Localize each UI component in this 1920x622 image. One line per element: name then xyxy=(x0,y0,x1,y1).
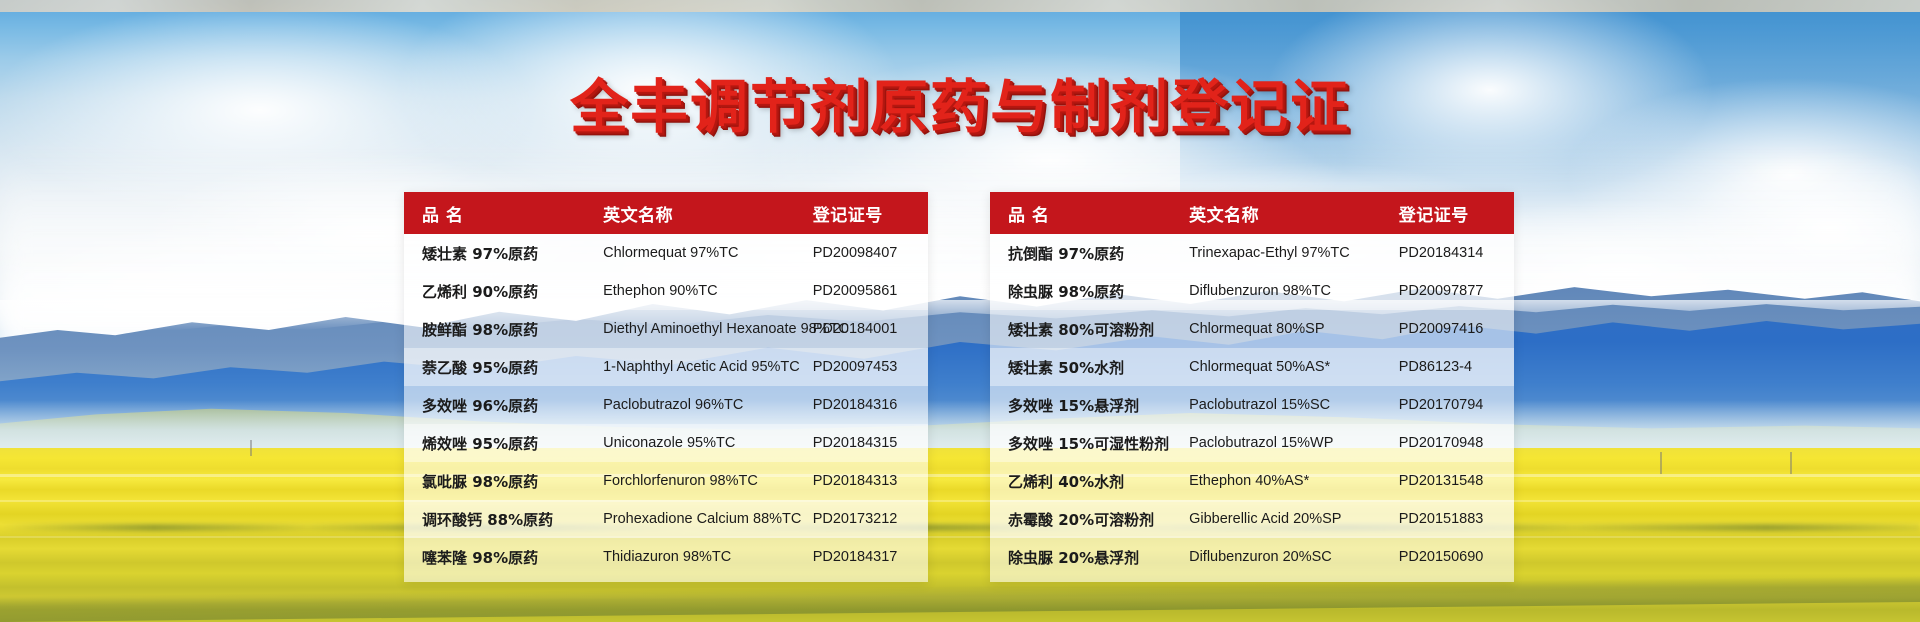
table-row: 多效唑 15%悬浮剂Paclobutrazol 15%SCPD20170794 xyxy=(990,386,1514,424)
cell-product-name: 萘乙酸 95%原药 xyxy=(404,357,603,378)
cell-registration-number: PD20184313 xyxy=(813,473,928,489)
table-body: 抗倒酯 97%原药Trinexapac-Ethyl 97%TCPD2018431… xyxy=(990,234,1514,582)
cell-product-name: 多效唑 15%可湿性粉剂 xyxy=(990,433,1189,454)
cell-registration-number: PD20170794 xyxy=(1399,397,1514,413)
cell-registration-number: PD20184317 xyxy=(813,549,928,565)
table-row: 矮壮素 50%水剂Chlormequat 50%AS*PD86123-4 xyxy=(990,348,1514,386)
cell-english-name: Chlormequat 50%AS* xyxy=(1189,359,1399,375)
column-header-english-name: 英文名称 xyxy=(603,201,813,226)
cell-registration-number: PD20097416 xyxy=(1399,321,1514,337)
title-container: 全丰调节剂原药与制剂登记证 xyxy=(0,60,1920,144)
cell-english-name: Diflubenzuron 20%SC xyxy=(1189,549,1399,565)
table-row: 赤霉酸 20%可溶粉剂Gibberellic Acid 20%SPPD20151… xyxy=(990,500,1514,538)
cell-english-name: Paclobutrazol 15%SC xyxy=(1189,397,1399,413)
power-pylon xyxy=(250,440,252,456)
cell-product-name: 矮壮素 80%可溶粉剂 xyxy=(990,319,1189,340)
table-header-row: 品 名 英文名称 登记证号 xyxy=(404,192,928,234)
field-road-stripe xyxy=(0,536,1920,538)
valley-haze-layer xyxy=(0,400,1920,450)
village-strip xyxy=(0,0,1920,12)
column-header-registration-number: 登记证号 xyxy=(813,201,928,226)
column-header-registration-number: 登记证号 xyxy=(1399,201,1514,226)
table-row: 除虫脲 20%悬浮剂Diflubenzuron 20%SCPD20150690 xyxy=(990,538,1514,576)
column-header-product-name: 品 名 xyxy=(990,201,1189,226)
cell-product-name: 除虫脲 20%悬浮剂 xyxy=(990,547,1189,568)
table-header-row: 品 名 英文名称 登记证号 xyxy=(990,192,1514,234)
cell-registration-number: PD20184314 xyxy=(1399,245,1514,261)
cell-english-name: Diflubenzuron 98%TC xyxy=(1189,283,1399,299)
cell-english-name: Trinexapac-Ethyl 97%TC xyxy=(1189,245,1399,261)
table-row: 萘乙酸 95%原药1-Naphthyl Acetic Acid 95%TCPD2… xyxy=(404,348,928,386)
cell-registration-number: PD20150690 xyxy=(1399,549,1514,565)
cell-registration-number: PD20184315 xyxy=(813,435,928,451)
table-row: 乙烯利 90%原药Ethephon 90%TCPD20095861 xyxy=(404,272,928,310)
cell-product-name: 调环酸钙 88%原药 xyxy=(404,509,603,530)
column-header-english-name: 英文名称 xyxy=(1189,201,1399,226)
table-row: 乙烯利 40%水剂Ethephon 40%AS*PD20131548 xyxy=(990,462,1514,500)
table-row: 多效唑 96%原药Paclobutrazol 96%TCPD20184316 xyxy=(404,386,928,424)
cell-product-name: 除虫脲 98%原药 xyxy=(990,281,1189,302)
cell-product-name: 乙烯利 90%原药 xyxy=(404,281,603,302)
cell-english-name: Gibberellic Acid 20%SP xyxy=(1189,511,1399,527)
table-row: 调环酸钙 88%原药Prohexadione Calcium 88%TCPD20… xyxy=(404,500,928,538)
cell-product-name: 赤霉酸 20%可溶粉剂 xyxy=(990,509,1189,530)
cell-product-name: 烯效唑 95%原药 xyxy=(404,433,603,454)
registration-table-right: 品 名 英文名称 登记证号 抗倒酯 97%原药Trinexapac-Ethyl … xyxy=(990,192,1514,582)
cell-english-name: Ethephon 40%AS* xyxy=(1189,473,1399,489)
page-title: 全丰调节剂原药与制剂登记证 xyxy=(570,60,1350,144)
cell-product-name: 矮壮素 50%水剂 xyxy=(990,357,1189,378)
table-body: 矮壮素 97%原药Chlormequat 97%TCPD20098407乙烯利 … xyxy=(404,234,928,582)
table-row: 氯吡脲 98%原药Forchlorfenuron 98%TCPD20184313 xyxy=(404,462,928,500)
cell-english-name: Ethephon 90%TC xyxy=(603,283,813,299)
cell-registration-number: PD20184001 xyxy=(813,321,928,337)
table-row: 噻苯隆 98%原药Thidiazuron 98%TCPD20184317 xyxy=(404,538,928,576)
cell-registration-number: PD20095861 xyxy=(813,283,928,299)
cell-registration-number: PD20098407 xyxy=(813,245,928,261)
field-road-stripe xyxy=(0,500,1920,502)
cell-product-name: 胺鲜酯 98%原药 xyxy=(404,319,603,340)
cell-english-name: Paclobutrazol 96%TC xyxy=(603,397,813,413)
table-row: 胺鲜酯 98%原药Diethyl Aminoethyl Hexanoate 98… xyxy=(404,310,928,348)
cell-english-name: Chlormequat 80%SP xyxy=(1189,321,1399,337)
table-row: 抗倒酯 97%原药Trinexapac-Ethyl 97%TCPD2018431… xyxy=(990,234,1514,272)
cell-english-name: Diethyl Aminoethyl Hexanoate 98%TC xyxy=(603,321,813,337)
cell-registration-number: PD86123-4 xyxy=(1399,359,1514,375)
tree-line xyxy=(0,524,1920,531)
cell-registration-number: PD20131548 xyxy=(1399,473,1514,489)
cell-english-name: 1-Naphthyl Acetic Acid 95%TC xyxy=(603,359,813,375)
power-pylon xyxy=(1660,452,1662,474)
cell-registration-number: PD20184316 xyxy=(813,397,928,413)
cell-english-name: Prohexadione Calcium 88%TC xyxy=(603,511,813,527)
field-road-stripe xyxy=(0,474,1920,477)
cell-product-name: 矮壮素 97%原药 xyxy=(404,243,603,264)
cell-registration-number: PD20097453 xyxy=(813,359,928,375)
table-row: 烯效唑 95%原药Uniconazole 95%TCPD20184315 xyxy=(404,424,928,462)
cell-registration-number: PD20151883 xyxy=(1399,511,1514,527)
table-row: 矮壮素 97%原药Chlormequat 97%TCPD20098407 xyxy=(404,234,928,272)
cell-english-name: Uniconazole 95%TC xyxy=(603,435,813,451)
cell-registration-number: PD20170948 xyxy=(1399,435,1514,451)
registration-table-left: 品 名 英文名称 登记证号 矮壮素 97%原药Chlormequat 97%TC… xyxy=(404,192,928,582)
cell-product-name: 氯吡脲 98%原药 xyxy=(404,471,603,492)
cell-product-name: 噻苯隆 98%原药 xyxy=(404,547,603,568)
cell-english-name: Chlormequat 97%TC xyxy=(603,245,813,261)
cell-registration-number: PD20173212 xyxy=(813,511,928,527)
cell-registration-number: PD20097877 xyxy=(1399,283,1514,299)
table-row: 多效唑 15%可湿性粉剂Paclobutrazol 15%WPPD2017094… xyxy=(990,424,1514,462)
table-row: 除虫脲 98%原药Diflubenzuron 98%TCPD20097877 xyxy=(990,272,1514,310)
column-header-product-name: 品 名 xyxy=(404,201,603,226)
cell-product-name: 多效唑 96%原药 xyxy=(404,395,603,416)
cell-english-name: Forchlorfenuron 98%TC xyxy=(603,473,813,489)
power-pylon xyxy=(1790,452,1792,474)
cell-english-name: Paclobutrazol 15%WP xyxy=(1189,435,1399,451)
table-row: 矮壮素 80%可溶粉剂Chlormequat 80%SPPD20097416 xyxy=(990,310,1514,348)
cell-product-name: 乙烯利 40%水剂 xyxy=(990,471,1189,492)
cell-product-name: 抗倒酯 97%原药 xyxy=(990,243,1189,264)
cell-english-name: Thidiazuron 98%TC xyxy=(603,549,813,565)
cell-product-name: 多效唑 15%悬浮剂 xyxy=(990,395,1189,416)
